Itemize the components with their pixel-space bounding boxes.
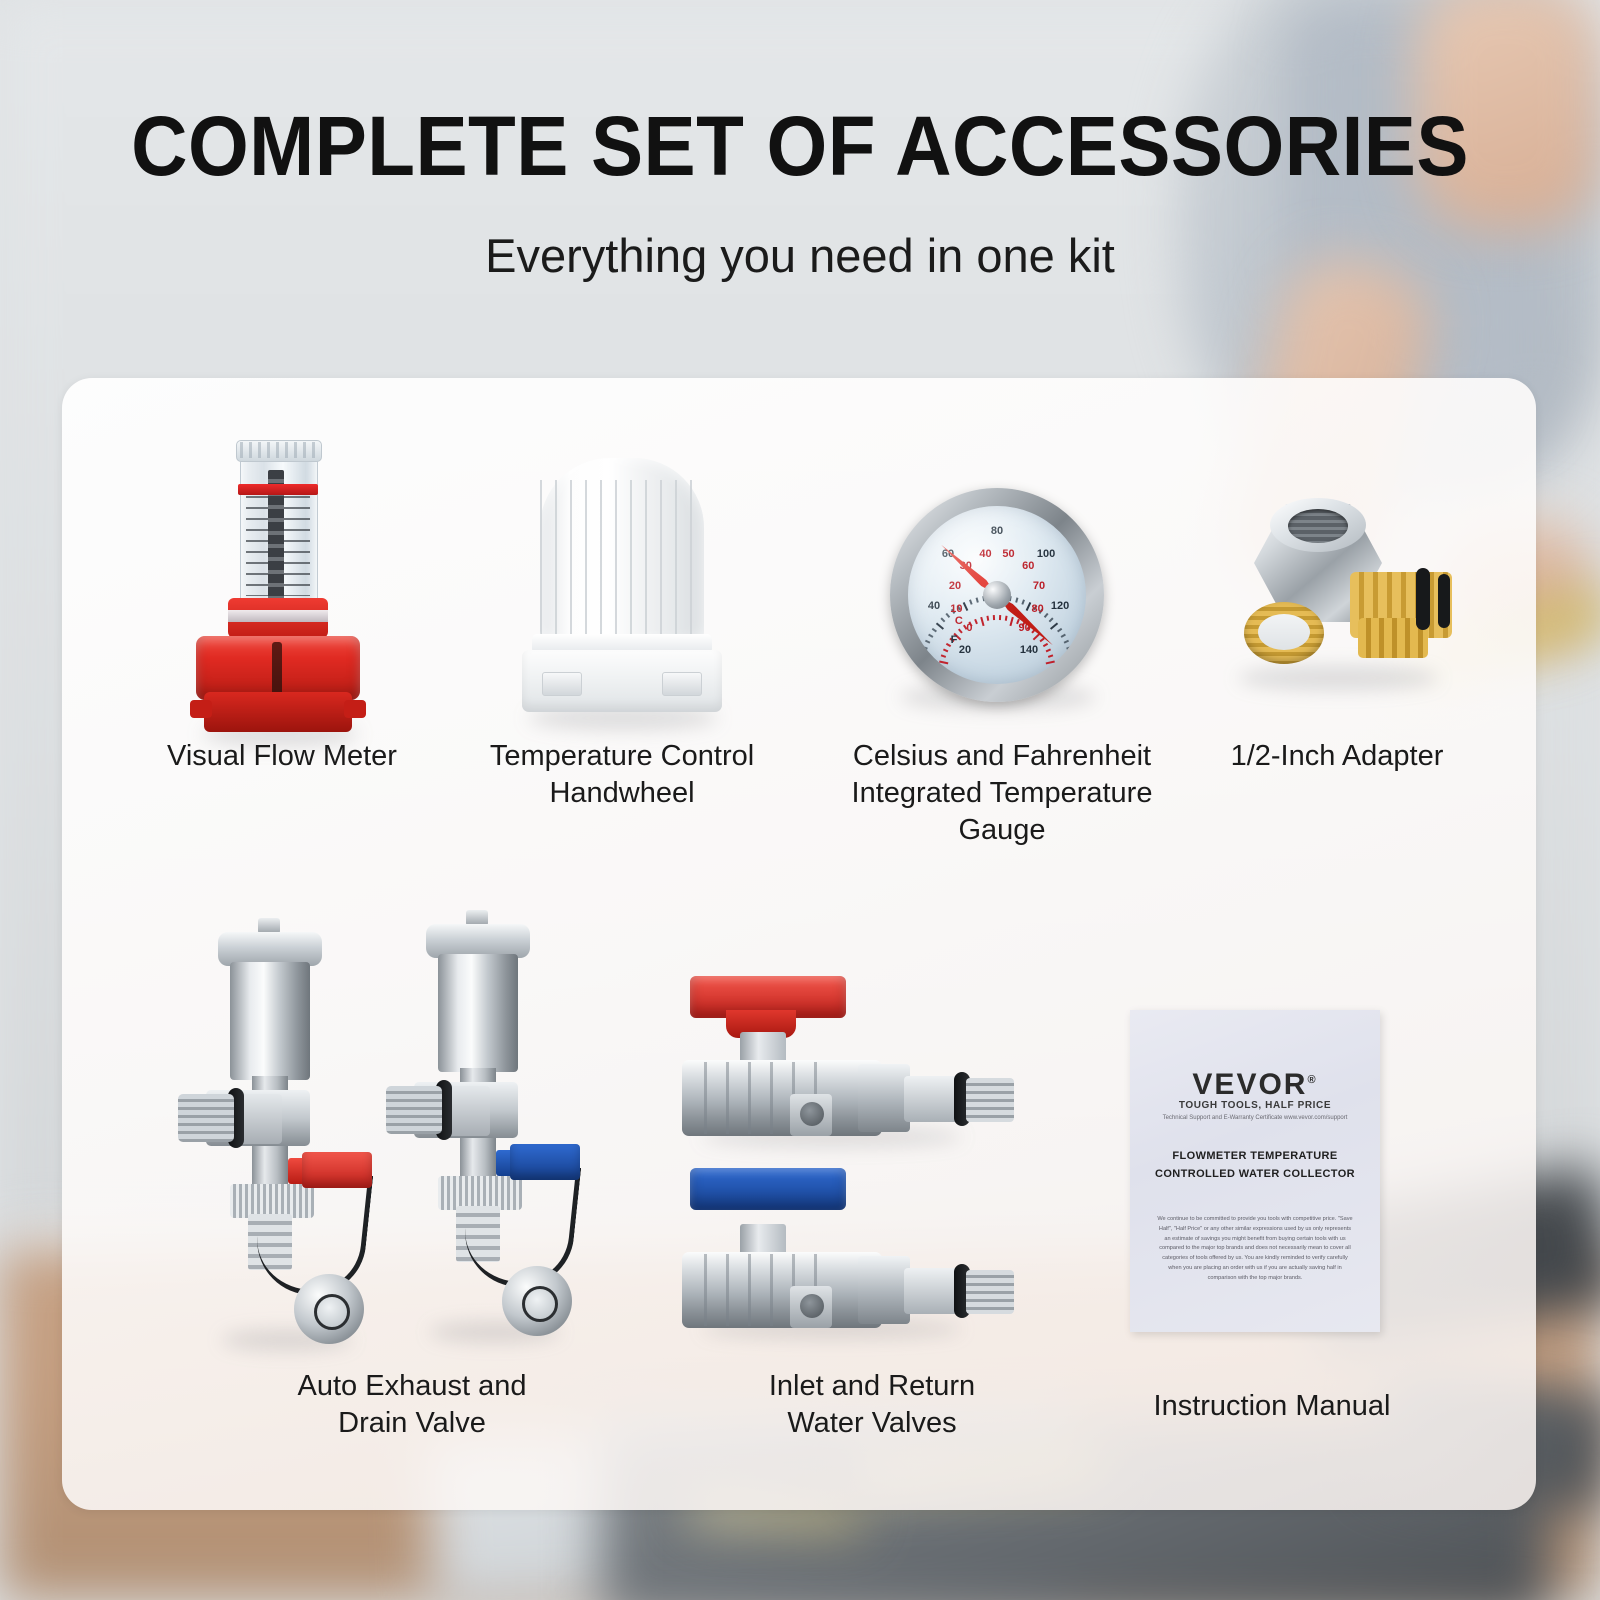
- flow-meter-tab-left: [190, 700, 212, 718]
- handwheel-clip-left: [542, 672, 582, 696]
- ball-valve-return-union-nut: [858, 1256, 910, 1324]
- adapter-threaded-bore: [1288, 509, 1348, 543]
- gauge-glass-reflection: [908, 506, 1086, 684]
- product-inlet-return-water-valves: [682, 976, 1022, 1356]
- product-visual-flow-meter: [184, 450, 374, 740]
- manual-body-text: We continue to be committed to provide y…: [1156, 1215, 1354, 1283]
- exhaust-valve-blue-hex: [446, 1086, 490, 1136]
- exhaust-valve-blue-cap[interactable]: [426, 924, 530, 958]
- flow-meter-cap-ribs: [240, 442, 316, 458]
- exhaust-valve-red-body: [230, 962, 310, 1080]
- manual-brand-text: VEVOR: [1192, 1068, 1307, 1101]
- page-title: COMPLETE SET OF ACCESSORIES: [56, 104, 1544, 188]
- manual-title-line-1: FLOWMETER TEMPERATURE: [1130, 1150, 1380, 1162]
- handwheel-ribs: [540, 480, 704, 643]
- exhaust-valve-red-male-thread: [178, 1094, 234, 1142]
- flow-meter-base: [204, 692, 352, 732]
- flow-meter-indicator-ring[interactable]: [238, 484, 318, 495]
- caption-inlet-return-water-valves: Inlet and Return Water Valves: [672, 1368, 1072, 1442]
- exhaust-valve-red-lever[interactable]: [302, 1152, 372, 1188]
- caption-half-inch-adapter: 1/2-Inch Adapter: [1152, 738, 1522, 775]
- handwheel-clip-right: [662, 672, 702, 696]
- exhaust-valve-blue-plug-hole: [522, 1286, 558, 1322]
- adapter-split-ring-bore: [1258, 614, 1310, 650]
- exhaust-valve-red-plug-hole: [314, 1294, 350, 1330]
- manual-tagline: TOUGH TOOLS, HALF PRICE: [1130, 1100, 1380, 1111]
- ball-valve-return-port-hole: [800, 1294, 824, 1318]
- ball-valve-return-blue: [682, 1168, 1022, 1338]
- caption-instruction-manual: Instruction Manual: [1072, 1388, 1472, 1425]
- exhaust-valve-red: [202, 918, 392, 1348]
- product-temperature-control-handwheel: [514, 458, 730, 728]
- flow-meter-chrome-band: [228, 610, 328, 622]
- product-instruction-manual: VEVOR® TOUGH TOOLS, HALF PRICE Technical…: [1130, 1010, 1380, 1332]
- adapter-o-ring-1: [1416, 568, 1430, 630]
- exhaust-valve-blue-male-thread: [386, 1086, 442, 1134]
- ball-valve-inlet-male-thread: [966, 1078, 1014, 1122]
- ball-valve-return-male-thread: [966, 1270, 1014, 1314]
- manual-brand-logo: VEVOR®: [1130, 1068, 1380, 1102]
- exhaust-valve-red-cap[interactable]: [218, 932, 322, 966]
- manual-support-line: Technical Support and E-Warranty Certifi…: [1130, 1115, 1380, 1121]
- exhaust-valve-red-hex: [238, 1094, 282, 1144]
- caption-temperature-gauge: Celsius and Fahrenheit Integrated Temper…: [802, 738, 1202, 849]
- product-half-inch-adapter: [1208, 498, 1468, 698]
- exhaust-valve-blue: [410, 910, 600, 1340]
- product-auto-exhaust-drain-valve: [202, 918, 622, 1348]
- adapter-o-ring-2: [1438, 574, 1450, 628]
- ball-valve-inlet-red: [682, 976, 1022, 1146]
- ball-valve-inlet-union-nut: [858, 1064, 910, 1132]
- adapter-shadow: [1238, 666, 1438, 690]
- manual-title-line-2: CONTROLLED WATER COLLECTOR: [1130, 1168, 1380, 1180]
- flow-meter-tab-right: [344, 700, 366, 718]
- page-subtitle: Everything you need in one kit: [0, 228, 1600, 283]
- exhaust-valve-blue-body: [438, 954, 518, 1072]
- exhaust-valve-blue-lever[interactable]: [510, 1144, 580, 1180]
- caption-temperature-control-handwheel: Temperature Control Handwheel: [422, 738, 822, 812]
- accessories-card: Visual Flow Meter Temperature Control Ha…: [62, 378, 1536, 1510]
- ball-valve-inlet-port-hole: [800, 1102, 824, 1126]
- manual-cover-page[interactable]: VEVOR® TOUGH TOOLS, HALF PRICE Technical…: [1130, 1010, 1380, 1332]
- manual-registered-mark: ®: [1307, 1074, 1317, 1086]
- caption-auto-exhaust-drain-valve: Auto Exhaust and Drain Valve: [212, 1368, 612, 1442]
- product-temperature-gauge: 204060801001201400102030405060708090CF: [890, 488, 1104, 702]
